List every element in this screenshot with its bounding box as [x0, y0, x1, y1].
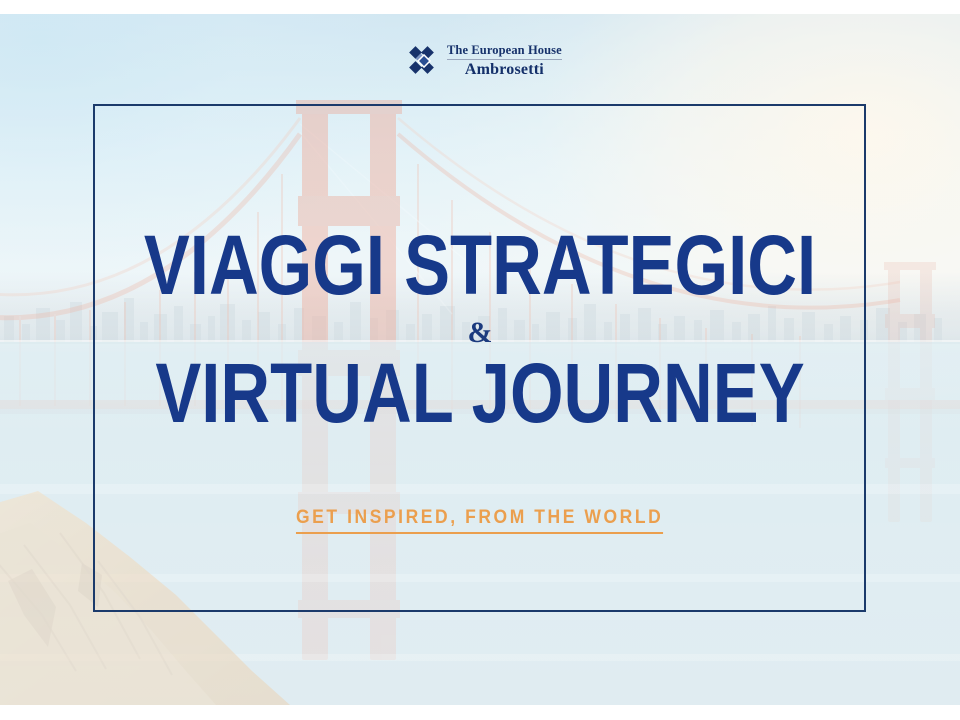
- logo-divider: [447, 59, 562, 60]
- ambrosetti-logo: The European House Ambrosetti: [408, 38, 573, 84]
- logo-wordmark: The European House Ambrosetti: [447, 44, 562, 78]
- logo-line-2: Ambrosetti: [465, 62, 544, 78]
- slide-root: The European House Ambrosetti VIAGGI STR…: [0, 0, 960, 720]
- ambrosetti-diamond-logo-icon: [408, 45, 440, 77]
- decorative-frame: [93, 104, 866, 612]
- logo-line-1: The European House: [447, 44, 562, 57]
- top-white-bar: [0, 0, 960, 14]
- bottom-white-bar: [0, 705, 960, 720]
